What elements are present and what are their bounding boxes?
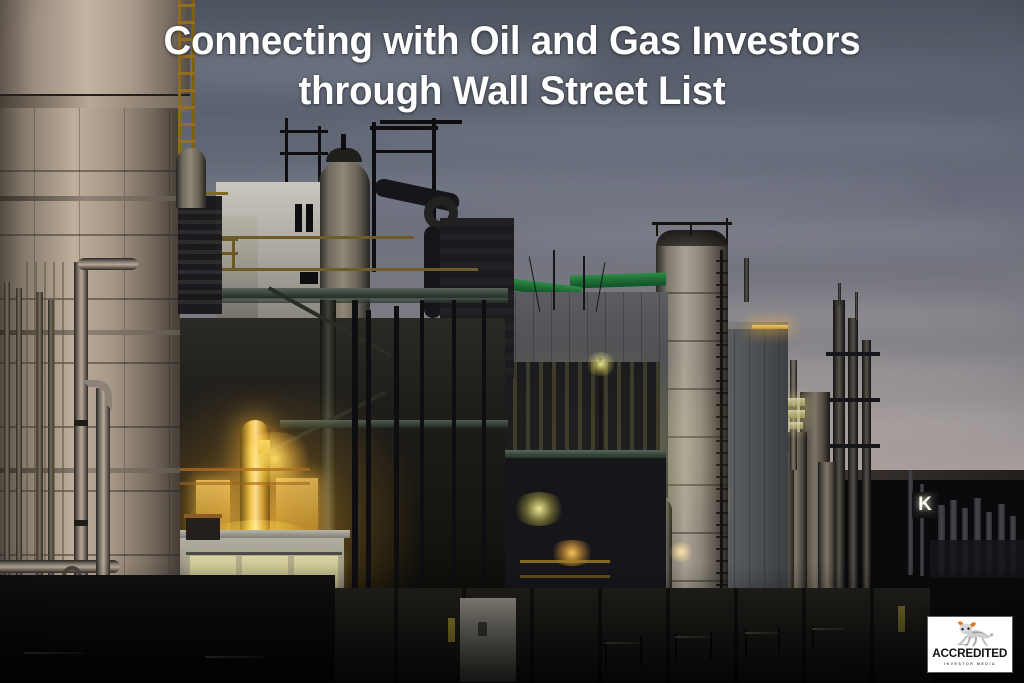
- plant-window-slot: [295, 204, 302, 232]
- plant-window-slot: [300, 272, 318, 284]
- refinery-column: [818, 462, 836, 590]
- road-barrier-rail: [675, 636, 711, 638]
- road-barrier-post: [605, 640, 607, 670]
- road-barrier-post: [640, 636, 642, 666]
- refinery-mast: [855, 292, 858, 320]
- sign-letter-k: K: [912, 492, 938, 518]
- tank-handrail-post: [656, 222, 658, 236]
- plant-tank-cap: [326, 148, 362, 162]
- plant-window-slot: [306, 204, 313, 232]
- plant-frame-vertical: [420, 300, 424, 600]
- title-line-2: through Wall Street List: [20, 66, 1003, 116]
- antenna-mast: [553, 250, 555, 310]
- horizontal-pipe: [78, 258, 138, 270]
- road-barrier-rail: [605, 642, 641, 644]
- plant-pipe-vertical: [366, 310, 371, 590]
- logo-brand-subtitle: INVESTOR MEDIA: [944, 661, 996, 667]
- pipe-band: [74, 420, 88, 426]
- pipe-elbow-down: [96, 388, 110, 592]
- lit-window: [258, 440, 270, 454]
- silo-band: [0, 196, 180, 201]
- plant-railing: [218, 236, 414, 239]
- lit-window: [789, 422, 803, 429]
- plant-crossbeam: [280, 130, 328, 133]
- refinery-platform: [826, 398, 880, 402]
- lit-window: [787, 398, 805, 406]
- refinery-platform: [826, 352, 880, 356]
- tank-handrail-post: [690, 222, 692, 236]
- handrail-orange: [180, 468, 310, 471]
- hero-banner: K: [0, 0, 1024, 683]
- plant-upper-frame: [370, 126, 438, 130]
- plant-pipe-vertical: [352, 300, 358, 590]
- plant-control-box: [216, 216, 258, 328]
- pipe-ladder-cage: [26, 262, 70, 562]
- refinery-stack: [848, 318, 858, 590]
- gate-house: [460, 598, 516, 682]
- logo-watermark[interactable]: ACCREDITED INVESTOR MEDIA: [928, 617, 1012, 672]
- plant-upper-frame: [372, 150, 436, 153]
- road-barrier-rail: [745, 632, 779, 634]
- charging-bull-icon: [946, 620, 994, 647]
- awning: [186, 516, 220, 540]
- equipment-grill: [178, 210, 222, 306]
- tank-handrail: [652, 222, 732, 225]
- refinery-platform: [826, 444, 880, 448]
- pipe-elbow: [82, 380, 112, 410]
- refinery-mast: [838, 283, 841, 305]
- tank-vent-pipe: [744, 258, 749, 302]
- secondary-tank: [176, 148, 206, 208]
- lower-machinery: [498, 458, 666, 594]
- plant-frame-vertical: [452, 300, 456, 600]
- plant-pipe-vertical: [394, 306, 399, 590]
- perimeter-wall-left: [0, 575, 335, 683]
- lit-window: [787, 410, 805, 418]
- plant-crossbeam: [280, 152, 328, 155]
- plant-upper-frame: [372, 122, 376, 272]
- pipe-rack-details: [500, 362, 660, 452]
- handrail-yellow: [520, 575, 610, 578]
- plant-railing: [218, 268, 478, 271]
- roofline-light-strip: [752, 325, 788, 329]
- title-line-1: Connecting with Oil and Gas Investors: [20, 16, 1003, 66]
- logo-brand-name: ACCREDITED: [933, 648, 1008, 660]
- distant-tower: [908, 470, 913, 575]
- gate-house-door: [478, 622, 487, 636]
- road-barrier-rail: [205, 656, 263, 658]
- banner-title: Connecting with Oil and Gas Investors th…: [0, 16, 1024, 116]
- road-barrier-post: [262, 650, 264, 682]
- antenna-mast: [583, 256, 585, 310]
- pipe-band: [74, 520, 88, 526]
- tank-handrail-post: [726, 218, 728, 244]
- lit-window: [276, 478, 318, 532]
- office-window-mullion: [186, 552, 342, 555]
- handrail-orange: [180, 482, 310, 485]
- plant-crane-arm: [380, 120, 462, 124]
- road-barrier-rail: [24, 652, 84, 654]
- vertical-pipe: [74, 262, 88, 592]
- plant-vent: [341, 134, 346, 150]
- handrail-yellow: [520, 560, 610, 563]
- vertical-pipe: [16, 288, 22, 592]
- warning-sign: [898, 606, 905, 632]
- road-barrier-post: [675, 634, 677, 662]
- plant-main-deck-edge: [178, 298, 508, 303]
- refinery-stack: [862, 340, 871, 590]
- awning-edge: [184, 514, 222, 518]
- warning-sign: [448, 618, 455, 642]
- road-barrier-rail: [812, 628, 844, 630]
- plant-guardrail-post: [232, 238, 235, 270]
- plant-frame-vertical: [482, 300, 486, 600]
- distant-structure: [930, 540, 1024, 578]
- vertical-pipe: [4, 282, 10, 592]
- lit-vessel: [240, 420, 270, 540]
